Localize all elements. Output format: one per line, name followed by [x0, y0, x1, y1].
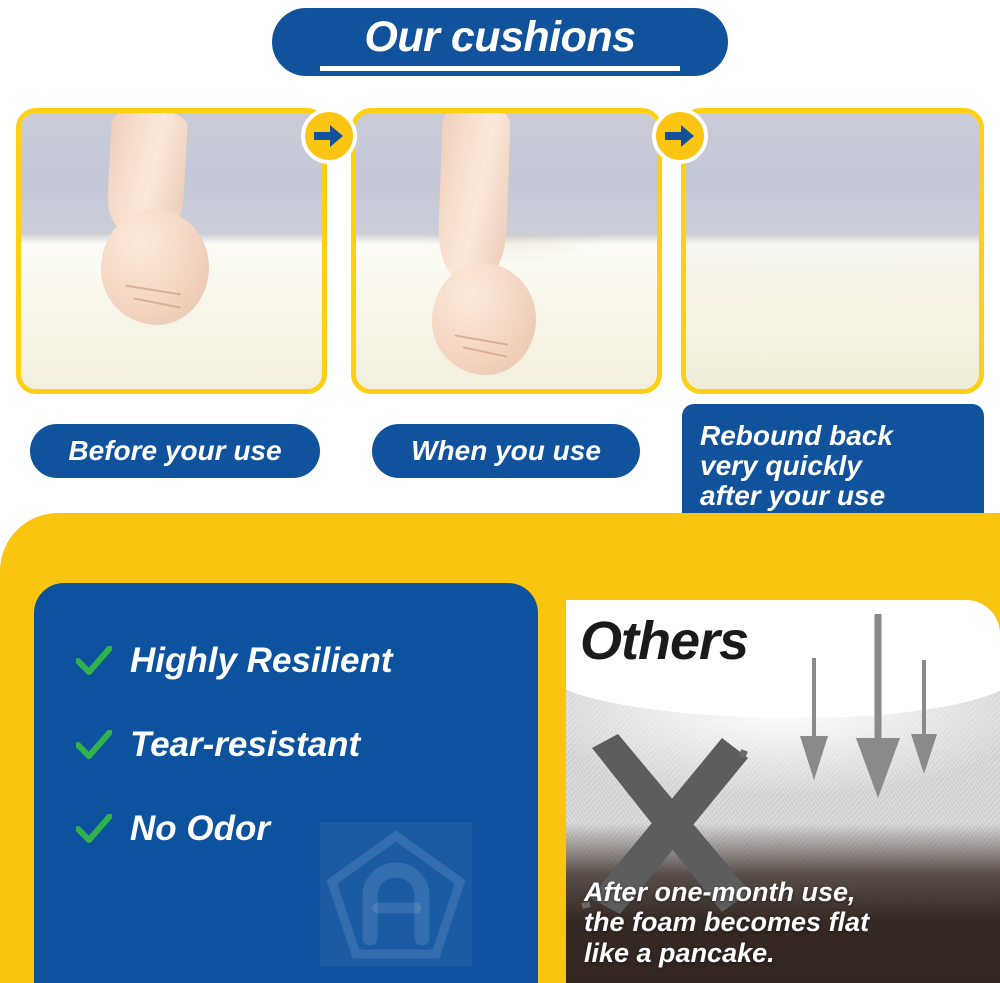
photo-panel-rebound	[681, 108, 984, 394]
brand-watermark	[320, 822, 472, 966]
feature-item: Tear-resistant	[76, 725, 393, 765]
others-caption: After one-month use, the foam becomes fl…	[584, 877, 869, 969]
step-arrow-badge-2	[652, 108, 708, 164]
check-icon	[76, 730, 112, 760]
pressure-arrows	[792, 608, 972, 808]
feature-label: No Odor	[130, 809, 270, 849]
features-list: Highly Resilient Tear-resistant No Odor	[76, 641, 393, 849]
foam-slab-rebounded	[686, 234, 979, 389]
demo-photo-row	[0, 108, 1000, 394]
check-icon	[76, 646, 112, 676]
step-caption-during: When you use	[372, 424, 640, 478]
forearm-shape	[437, 108, 511, 280]
feature-label: Highly Resilient	[130, 641, 393, 681]
step-caption-line-2: very quickly	[700, 451, 862, 481]
others-caption-line-1: After one-month use,	[584, 877, 869, 908]
page-title-banner: Our cushions	[272, 8, 728, 76]
foam-edge	[356, 234, 657, 244]
page-title: Our cushions	[364, 16, 635, 59]
photo-backdrop	[686, 113, 979, 240]
others-caption-line-2: the foam becomes flat	[584, 907, 869, 938]
check-icon	[76, 814, 112, 844]
foam-edge	[686, 234, 979, 244]
step-arrow-badge-1	[301, 108, 357, 164]
step-caption-label: Before your use	[68, 435, 281, 467]
photo-panel-before	[16, 108, 327, 394]
step-caption-line-3: after your use	[700, 481, 885, 511]
others-caption-line-3: like a pancake.	[584, 938, 869, 969]
right-arrow-icon	[665, 124, 695, 148]
fist-shape	[432, 263, 536, 375]
feature-item: Highly Resilient	[76, 641, 393, 681]
others-title: Others	[580, 610, 748, 672]
title-underline	[320, 66, 680, 71]
fist-shape	[101, 209, 209, 325]
down-arrow-icon	[792, 608, 972, 808]
step-caption-rebound: Rebound back very quickly after your use	[682, 404, 984, 528]
pentagon-a-logo-icon	[320, 822, 472, 966]
step-caption-label: When you use	[411, 435, 601, 467]
photo-panel-during	[351, 108, 662, 394]
feature-label: Tear-resistant	[130, 725, 360, 765]
step-caption-line-1: Rebound back	[700, 421, 893, 451]
others-comparison-card: Others After one-month use, t	[566, 600, 1000, 983]
step-caption-before: Before your use	[30, 424, 320, 478]
right-arrow-icon	[314, 124, 344, 148]
